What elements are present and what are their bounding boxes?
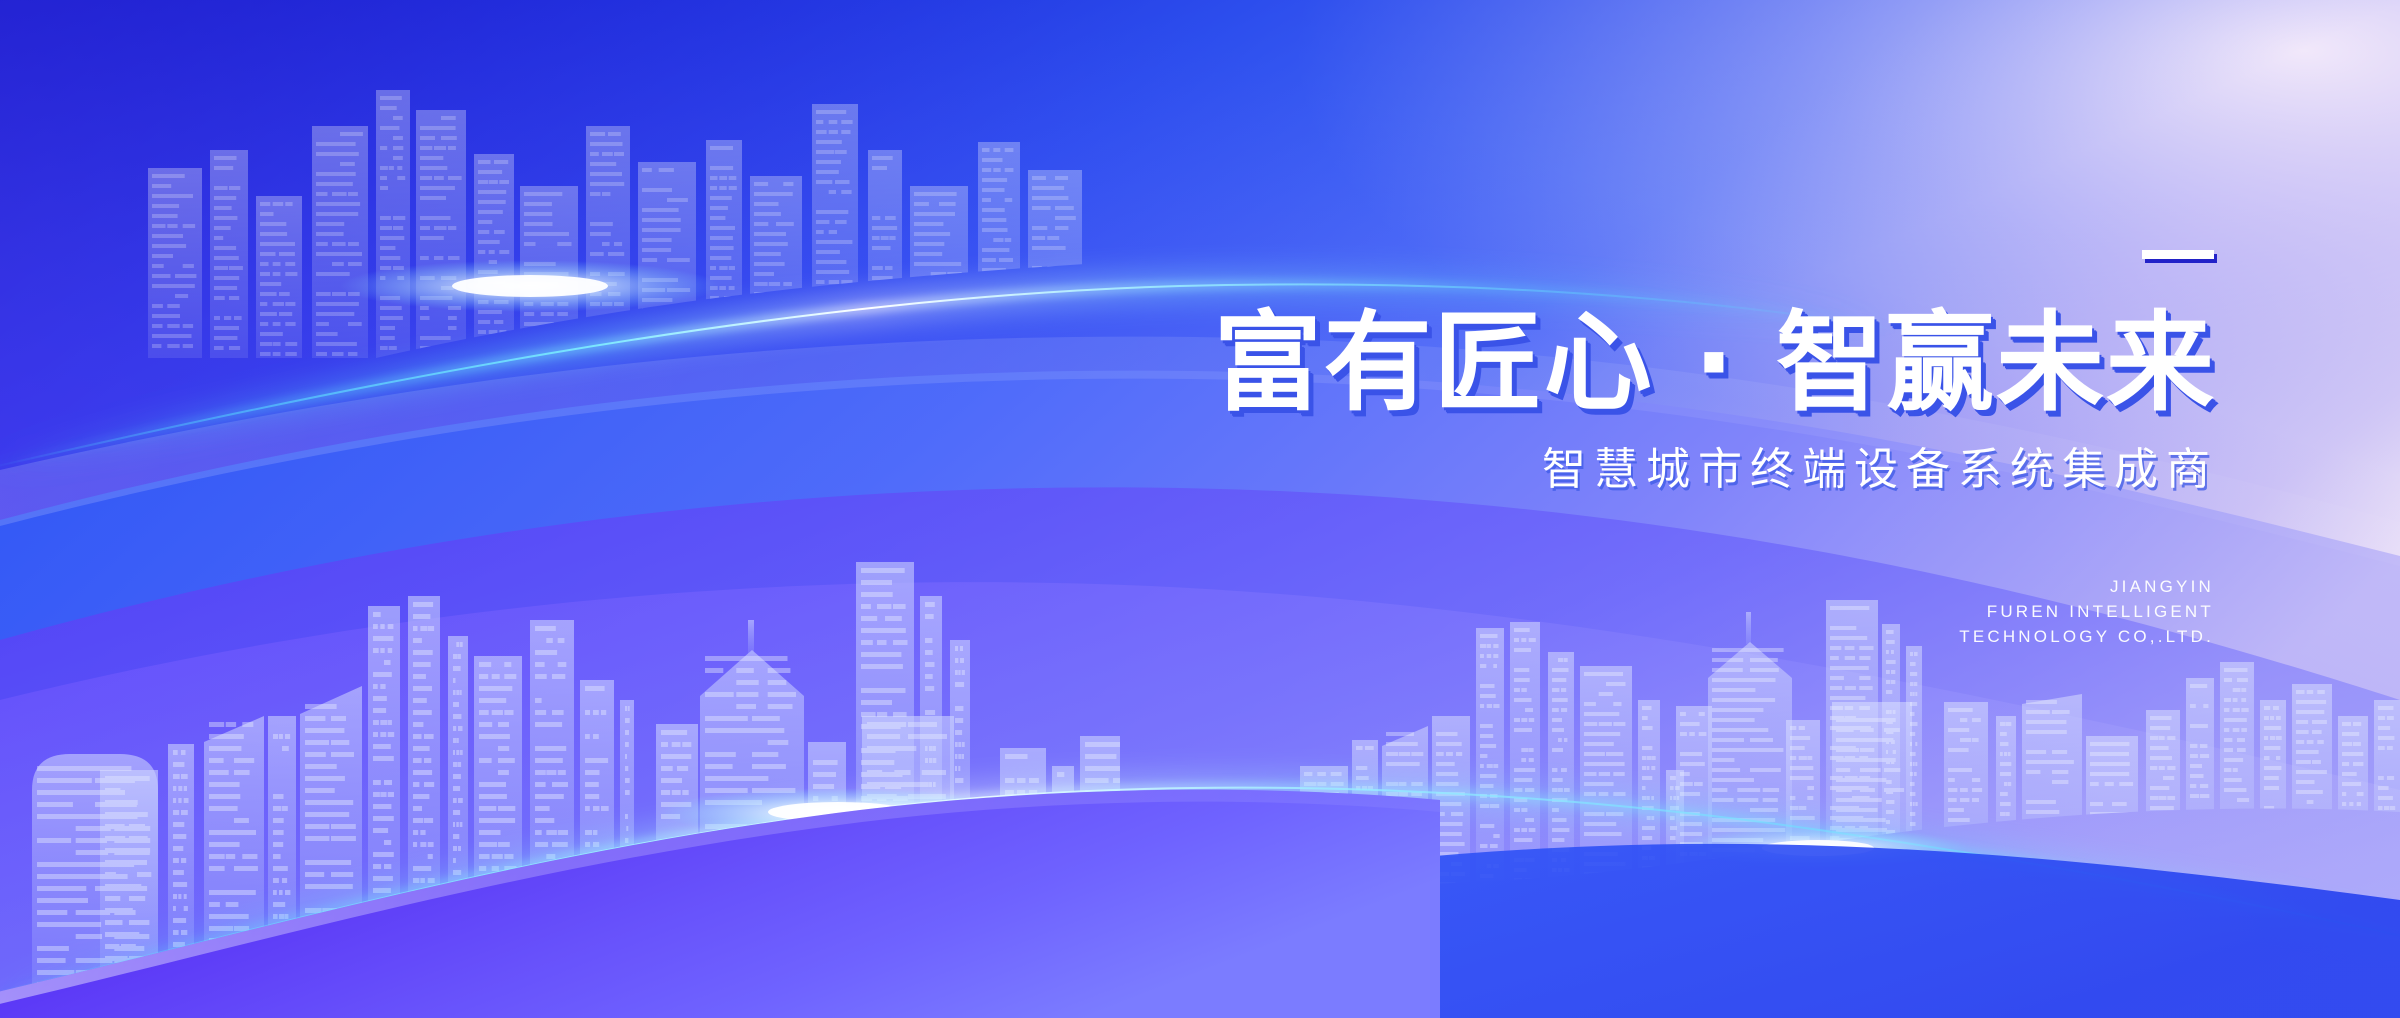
headline-title: 富有匠心 · 智赢未来 <box>1040 310 2220 418</box>
subtitle-tagline: 智慧城市终端设备系统集成商 <box>1040 448 2220 492</box>
banner-canvas: 富有匠心 · 智赢未来 智慧城市终端设备系统集成商 JIANGYIN FUREN… <box>0 0 2400 1018</box>
banner-text-block: 富有匠心 · 智赢未来 智慧城市终端设备系统集成商 JIANGYIN FUREN… <box>1040 250 2220 649</box>
company-name-line-2: FUREN INTELLIGENT <box>1040 599 2214 624</box>
accent-dash-icon <box>2142 250 2214 259</box>
company-name-line-1: JIANGYIN <box>1040 574 2214 599</box>
company-name-line-3: TECHNOLOGY CO,.LTD. <box>1040 624 2214 649</box>
company-name-block: JIANGYIN FUREN INTELLIGENT TECHNOLOGY CO… <box>1040 574 2220 649</box>
